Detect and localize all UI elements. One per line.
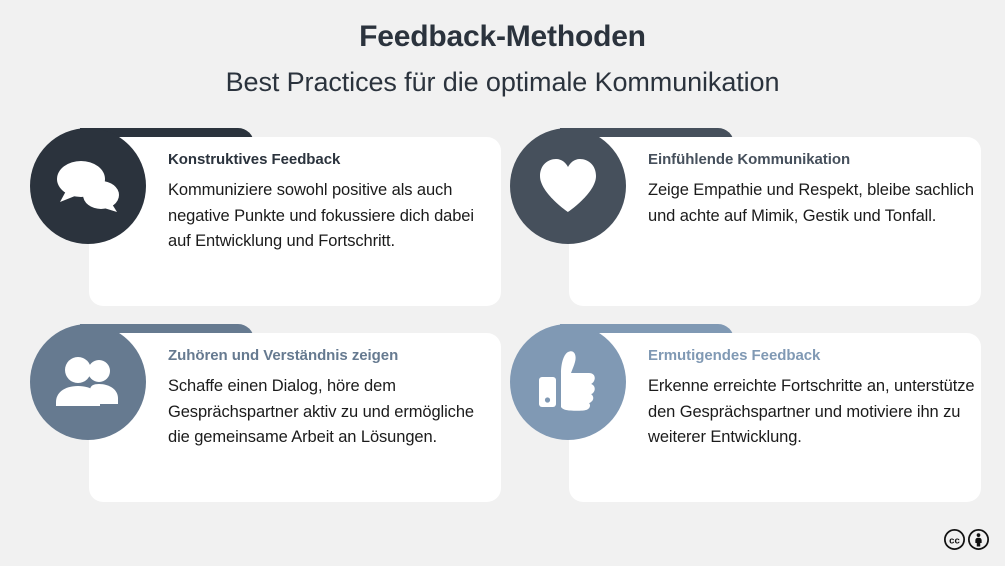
card-title: Ermutigendes Feedback bbox=[648, 346, 976, 365]
card-icon-circle bbox=[510, 128, 626, 244]
card-text: Zuhören und Verständnis zeigen Schaffe e… bbox=[168, 346, 496, 451]
users-icon bbox=[56, 357, 120, 407]
card-konstruktives-feedback[interactable]: Konstruktives Feedback Kommuniziere sowo… bbox=[21, 120, 501, 306]
card-title: Zuhören und Verständnis zeigen bbox=[168, 346, 496, 365]
card-icon-circle bbox=[510, 324, 626, 440]
page-title: Feedback-Methoden bbox=[0, 0, 1005, 55]
header: Feedback-Methoden Best Practices für die… bbox=[0, 0, 1005, 99]
card-body: Zeige Empathie und Respekt, bleibe sachl… bbox=[648, 169, 976, 229]
card-body: Kommuniziere sowohl positive als auch ne… bbox=[168, 169, 496, 255]
card-grid: Konstruktives Feedback Kommuniziere sowo… bbox=[0, 120, 1005, 506]
card-title: Einfühlende Kommunikation bbox=[648, 150, 976, 169]
attribution-person-icon bbox=[968, 529, 989, 550]
thumbs-up-icon bbox=[539, 351, 597, 413]
svg-text:cc: cc bbox=[949, 535, 960, 546]
card-einfuehlende-kommunikation[interactable]: Einfühlende Kommunikation Zeige Empathie… bbox=[501, 120, 981, 306]
card-icon-circle bbox=[30, 128, 146, 244]
card-text: Einfühlende Kommunikation Zeige Empathie… bbox=[648, 150, 976, 229]
cc-icon: cc bbox=[944, 529, 965, 550]
card-body: Erkenne erreichte Fortschritte an, unter… bbox=[648, 365, 976, 451]
page-subtitle: Best Practices für die optimale Kommunik… bbox=[0, 55, 1005, 99]
speech-bubbles-icon bbox=[56, 157, 120, 215]
card-title: Konstruktives Feedback bbox=[168, 150, 496, 169]
card-text: Konstruktives Feedback Kommuniziere sowo… bbox=[168, 150, 496, 255]
card-ermutigendes-feedback[interactable]: Ermutigendes Feedback Erkenne erreichte … bbox=[501, 316, 981, 502]
card-body: Schaffe einen Dialog, höre dem Gesprächs… bbox=[168, 365, 496, 451]
card-zuhoeren-und-verstaendnis-zeigen[interactable]: Zuhören und Verständnis zeigen Schaffe e… bbox=[21, 316, 501, 502]
heart-icon bbox=[538, 158, 598, 214]
card-icon-circle bbox=[30, 324, 146, 440]
creative-commons-badge: cc bbox=[944, 528, 990, 550]
card-text: Ermutigendes Feedback Erkenne erreichte … bbox=[648, 346, 976, 451]
